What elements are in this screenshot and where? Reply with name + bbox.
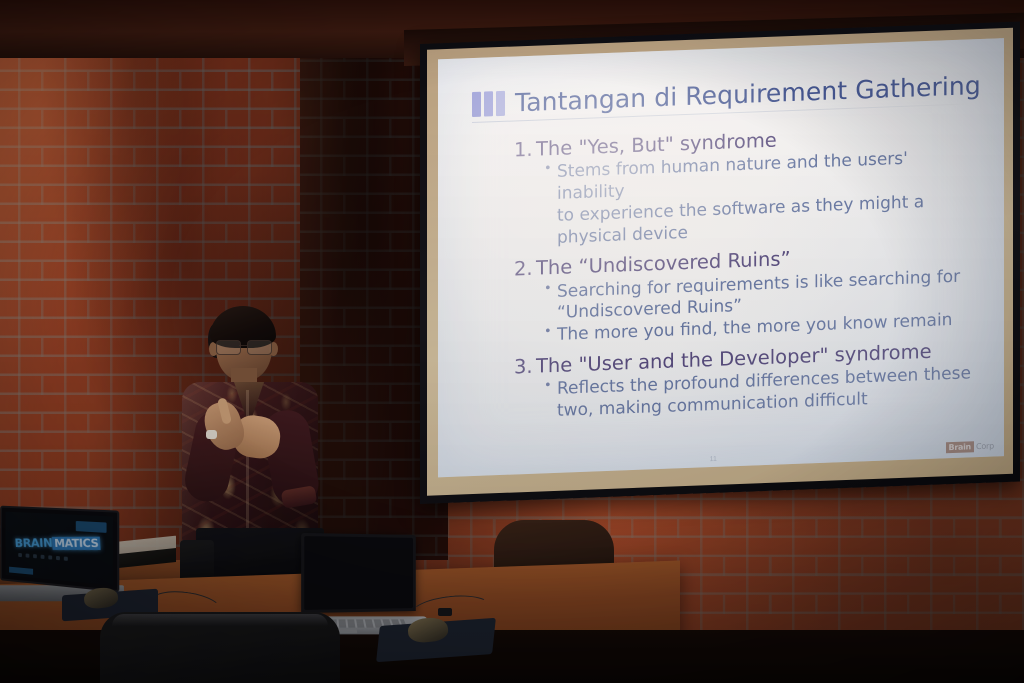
ring <box>206 430 217 439</box>
laptop-left-taskbar <box>9 567 33 575</box>
three-bars-icon <box>472 91 505 117</box>
slide-item: 2.The “Undiscovered Ruins” Searching for… <box>514 239 978 348</box>
usb-dongle <box>438 608 452 616</box>
brainmatics-logo: BRAIN MATICS <box>14 536 101 550</box>
glasses-bridge <box>239 345 247 346</box>
slide-footer-logo: Brain Corp <box>946 440 994 453</box>
slide: Tantangan di Requirement Gathering 1.The… <box>438 38 1004 477</box>
glasses-lens-right <box>247 340 272 355</box>
photo-scene: Tantangan di Requirement Gathering 1.The… <box>0 0 1024 683</box>
projection-screen: Tantangan di Requirement Gathering 1.The… <box>420 21 1020 504</box>
slide-item-number: 1. <box>514 137 536 163</box>
slide-bullet-list: 1.The "Yes, But" syndrome Stems from hum… <box>468 120 978 426</box>
slide-item: 1.The "Yes, But" syndrome Stems from hum… <box>514 120 978 251</box>
slide-item: 3.The "User and the Developer" syndrome … <box>514 337 978 424</box>
projected-image: Tantangan di Requirement Gathering 1.The… <box>438 38 1004 477</box>
glasses-lens-left <box>216 340 241 355</box>
slide-title: Tantangan di Requirement Gathering <box>515 71 981 117</box>
slide-page-number: 11 <box>710 456 717 463</box>
laptop-center-screen <box>304 536 413 610</box>
logo-mark: Brain <box>946 441 974 453</box>
laptop-left-screen: BRAIN MATICS <box>6 512 113 586</box>
laptop-left-window-tab <box>76 521 107 533</box>
laptop-center-lid <box>301 533 416 613</box>
brainmatics-logo-brain: BRAIN <box>14 536 53 550</box>
laptop-left-dots <box>18 553 68 561</box>
logo-text: Corp <box>974 441 994 451</box>
glasses <box>216 340 272 354</box>
slide-item-number: 3. <box>514 354 536 380</box>
laptop-left-lid: BRAIN MATICS <box>0 506 119 593</box>
slide-subbullets: Stems from human nature and the users' i… <box>514 146 978 250</box>
brainmatics-logo-matics: MATICS <box>52 536 101 549</box>
slide-item-number: 2. <box>514 256 536 282</box>
office-chair-highlight <box>112 614 328 626</box>
